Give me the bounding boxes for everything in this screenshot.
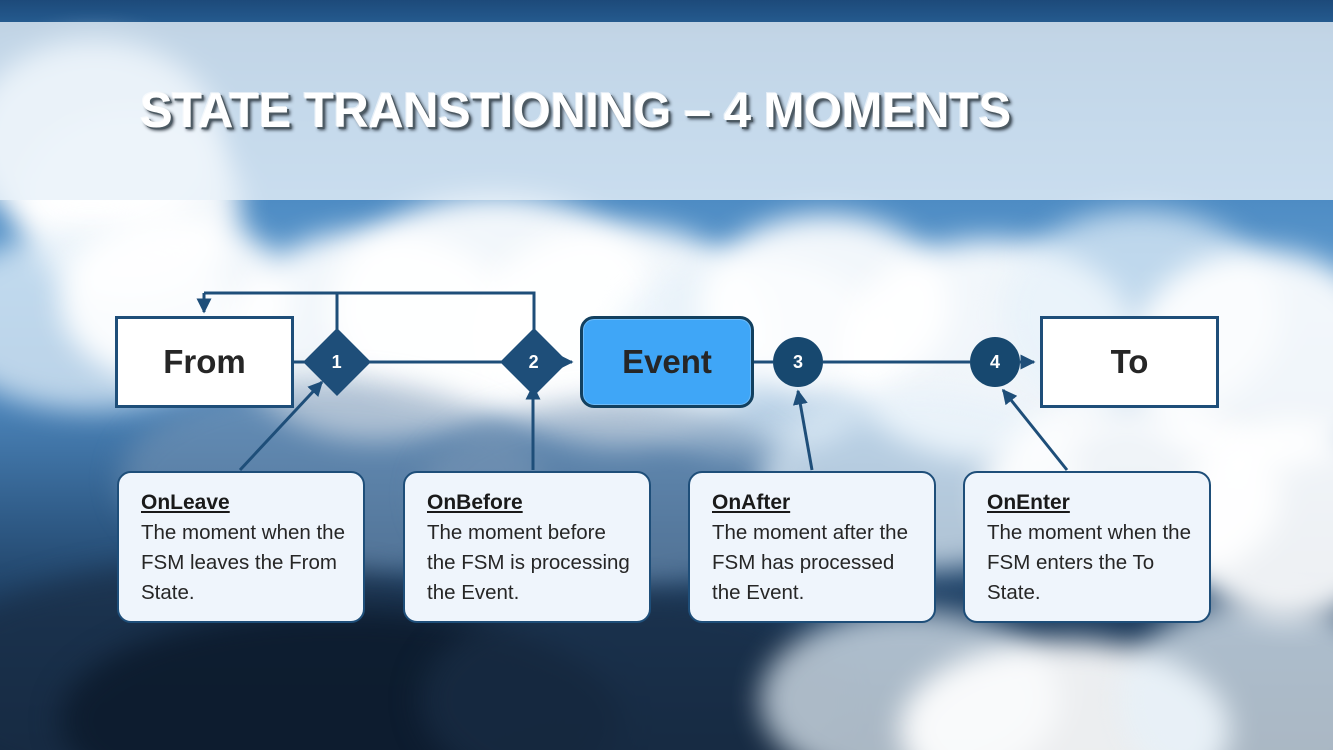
moment-marker-1-label: 1 <box>332 351 342 372</box>
state-transition-diagram: From Event To 1 2 3 4 OnLeave The moment… <box>0 0 1333 750</box>
state-node-to[interactable]: To <box>1040 316 1219 408</box>
callout-onleave-title: OnLeave <box>141 489 345 516</box>
callout-onbefore-title: OnBefore <box>427 489 631 516</box>
callout-onleave-body: The moment when the FSM leaves the From … <box>141 518 345 607</box>
event-node-label: Event <box>622 343 712 381</box>
event-node[interactable]: Event <box>580 316 754 408</box>
slide: STATE TRANSTIONING – 4 MOMENTS <box>0 0 1333 750</box>
callout-onbefore[interactable]: OnBefore The moment before the FSM is pr… <box>403 471 651 623</box>
callout-onenter-title: OnEnter <box>987 489 1191 516</box>
moment-marker-2-label: 2 <box>529 351 539 372</box>
state-node-from[interactable]: From <box>115 316 294 408</box>
moment-marker-4-label: 4 <box>990 352 1000 373</box>
callout-onafter-body: The moment after the FSM has processed t… <box>712 518 916 607</box>
callout-onleave[interactable]: OnLeave The moment when the FSM leaves t… <box>117 471 365 623</box>
state-node-from-label: From <box>163 343 246 381</box>
callout-onenter-body: The moment when the FSM enters the To St… <box>987 518 1191 607</box>
state-node-to-label: To <box>1111 343 1149 381</box>
callout-onenter[interactable]: OnEnter The moment when the FSM enters t… <box>963 471 1211 623</box>
moment-marker-3[interactable]: 3 <box>773 337 823 387</box>
callout-onbefore-body: The moment before the FSM is processing … <box>427 518 631 607</box>
callout-onafter[interactable]: OnAfter The moment after the FSM has pro… <box>688 471 936 623</box>
moment-marker-3-label: 3 <box>793 352 803 373</box>
callout-onafter-title: OnAfter <box>712 489 916 516</box>
moment-marker-4[interactable]: 4 <box>970 337 1020 387</box>
